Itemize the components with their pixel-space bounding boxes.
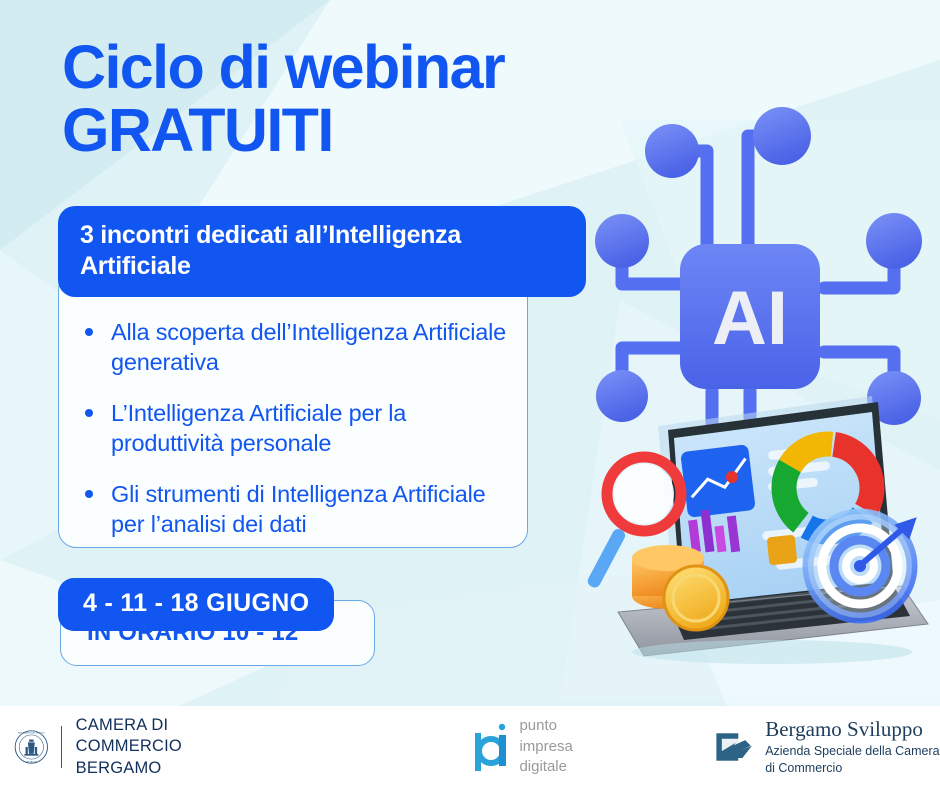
bergamo-sviluppo-name: Bergamo Sviluppo	[765, 718, 940, 741]
topics-list: Alla scoperta dell’Intelligenza Artifici…	[77, 317, 509, 539]
headline-line-1: Ciclo di webinar	[62, 36, 662, 99]
svg-text:BERGAMASCHI AL SERVIZIO: BERGAMASCHI AL SERVIZIO	[18, 732, 45, 735]
date-badge: 4 - 11 - 18 GIUGNO	[58, 578, 334, 631]
list-item: Gli strumenti di Intelligenza Artificial…	[77, 479, 509, 539]
subtitle-banner: 3 incontri dedicati all’Intelligenza Art…	[58, 206, 586, 297]
bergamo-sviluppo-arrow-icon	[715, 723, 753, 771]
list-item-label: Gli strumenti di Intelligenza Artificial…	[111, 481, 486, 537]
ccb-line-2: BERGAMO	[76, 758, 212, 779]
pid-line-1: punto	[519, 716, 572, 737]
list-item-label: Alla scoperta dell’Intelligenza Artifici…	[111, 319, 506, 375]
logo-punto-impresa-digitale: punto impresa digitale	[473, 716, 572, 778]
list-item: L’Intelligenza Artificiale per la produt…	[77, 398, 509, 458]
list-item-label: L’Intelligenza Artificiale per la produt…	[111, 400, 406, 456]
bullet-dot-icon	[85, 328, 93, 336]
camera-di-commercio-seal-icon: BERGAMASCHI AL SERVIZIO DEI VALORI	[14, 721, 49, 773]
svg-text:DEI VALORI: DEI VALORI	[26, 761, 37, 764]
list-item: Alla scoperta dell’Intelligenza Artifici…	[77, 317, 509, 377]
pid-label: punto impresa digitale	[519, 716, 572, 778]
ai-laptop-illustration: AI	[572, 96, 940, 666]
camera-di-commercio-label: CAMERA DI COMMERCIO BERGAMO	[76, 715, 212, 779]
ai-chip-label: AI	[712, 276, 788, 361]
bergamo-sviluppo-subtitle: Azienda Speciale della Camera di Commerc…	[765, 743, 940, 776]
pid-line-2: impresa	[519, 737, 572, 758]
ccb-line-1: CAMERA DI COMMERCIO	[76, 715, 212, 758]
footer-logos: BERGAMASCHI AL SERVIZIO DEI VALORI CAMER…	[0, 706, 940, 788]
topics-card: Alla scoperta dell’Intelligenza Artifici…	[58, 272, 528, 548]
bullet-dot-icon	[85, 409, 93, 417]
webinar-poster: AI	[0, 0, 940, 788]
pid-monogram-icon	[473, 721, 509, 773]
logo-bergamo-sviluppo: Bergamo Sviluppo Azienda Speciale della …	[715, 718, 940, 776]
bullet-dot-icon	[85, 490, 93, 498]
bergamo-sviluppo-label: Bergamo Sviluppo Azienda Speciale della …	[765, 718, 940, 776]
logo-camera-di-commercio: BERGAMASCHI AL SERVIZIO DEI VALORI CAMER…	[14, 715, 211, 779]
logo-divider	[61, 726, 62, 768]
pid-line-3: digitale	[519, 757, 572, 778]
